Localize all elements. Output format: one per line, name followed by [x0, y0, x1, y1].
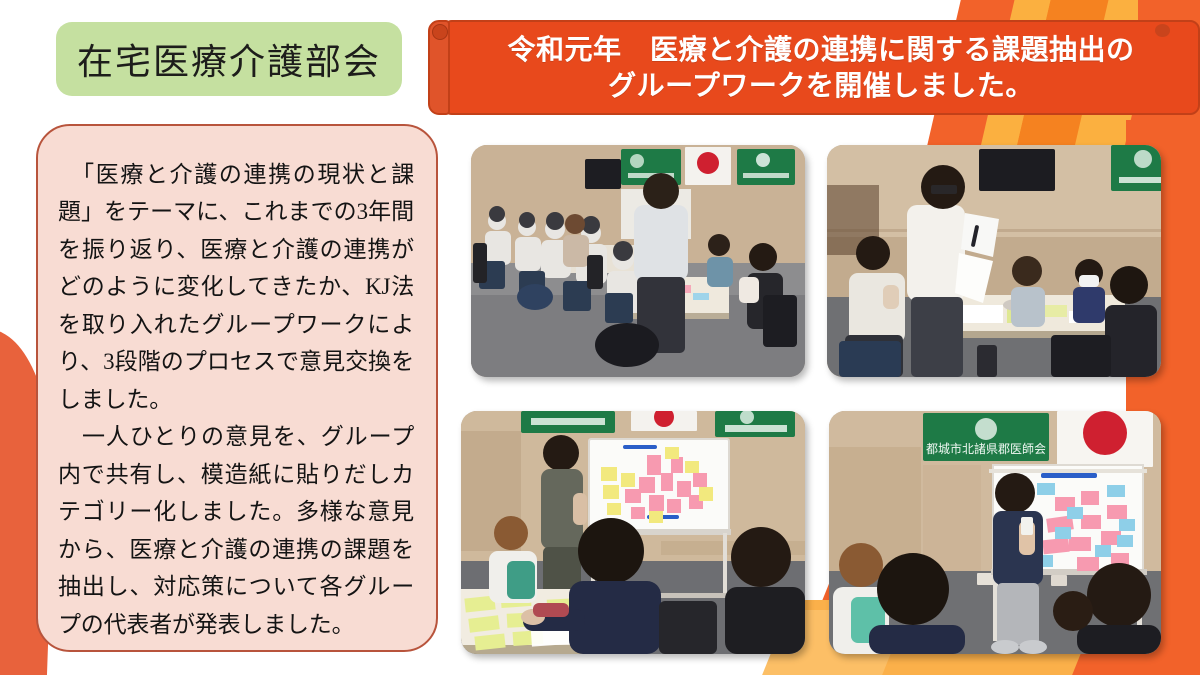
photo-top-right — [827, 145, 1161, 377]
headline-line-1: 令和元年 医療と介護の連携に関する課題抽出の — [507, 32, 1134, 68]
body-paragraph-1: 「医療と介護の連携の現状と課題」をテーマに、これまでの3年間を振り返り、医療と介… — [58, 156, 414, 418]
photo-top-left-image — [471, 145, 805, 377]
headline-ribbon-body: 令和元年 医療と介護の連携に関する課題抽出の グループワークを開催しました。 — [442, 20, 1200, 115]
photo-bottom-right-image: 都城市北諸県郡医師会 — [829, 411, 1161, 654]
body-text-card: 「医療と介護の連携の現状と課題」をテーマに、これまでの3年間を振り返り、医療と介… — [36, 124, 438, 652]
photo-bottom-left — [461, 411, 805, 654]
wall-banner-text: 都城市北諸県郡医師会 — [926, 441, 1046, 456]
body-paragraph-2: 一人ひとりの意見を、グループ内で共有し、模造紙に貼りだしカテゴリー化しました。多… — [58, 418, 414, 643]
slide-canvas: 在宅医療介護部会 令和元年 医療と介護の連携に関する課題抽出の グループワークを… — [0, 0, 1200, 675]
headline-line-2: グループワークを開催しました。 — [608, 68, 1034, 104]
photo-bottom-right: 都城市北諸県郡医師会 — [829, 411, 1161, 654]
photo-top-right-image — [827, 145, 1161, 377]
page-title-pill: 在宅医療介護部会 — [56, 22, 402, 96]
page-title: 在宅医療介護部会 — [77, 33, 381, 85]
ribbon-curl-left-icon — [428, 20, 450, 115]
photo-top-left — [471, 145, 805, 377]
headline-ribbon: 令和元年 医療と介護の連携に関する課題抽出の グループワークを開催しました。 — [428, 20, 1200, 115]
ribbon-curl-right-icon — [1155, 24, 1170, 37]
photo-bottom-left-image — [461, 411, 805, 654]
